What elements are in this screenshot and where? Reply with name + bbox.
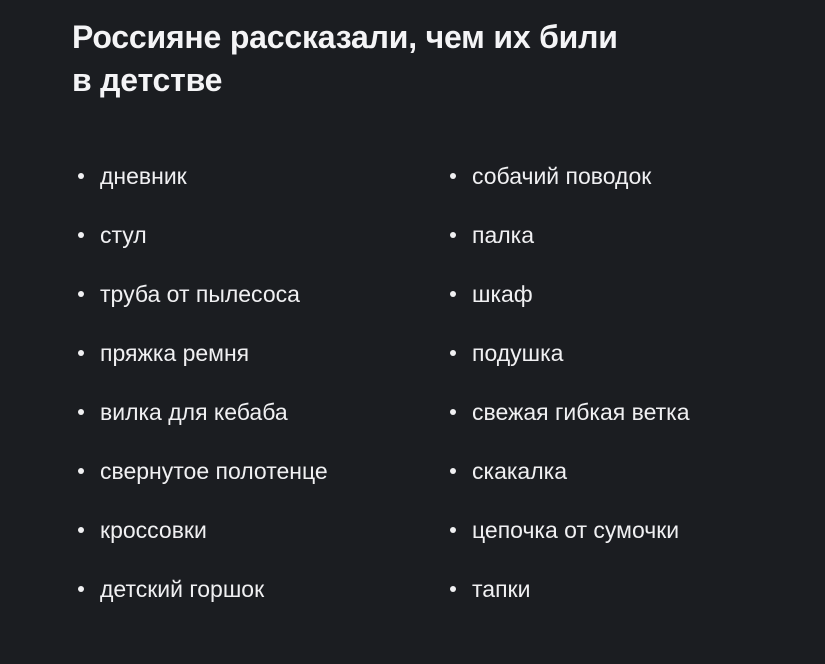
- bullet-icon: [450, 586, 456, 592]
- list-item: стул: [72, 205, 444, 264]
- list-item: скакалка: [444, 441, 784, 500]
- right-column: собачий поводок палка шкаф подушка свежа…: [444, 146, 784, 618]
- list-item-label: вилка для кебаба: [100, 398, 288, 426]
- bullet-icon: [78, 527, 84, 533]
- list-item-label: труба от пылесоса: [100, 280, 300, 308]
- list-item-label: шкаф: [472, 280, 533, 308]
- bullet-icon: [450, 468, 456, 474]
- list-item: вилка для кебаба: [72, 382, 444, 441]
- bullet-icon: [450, 232, 456, 238]
- list-item-label: свернутое полотенце: [100, 457, 328, 485]
- list-item-label: детский горшок: [100, 575, 264, 603]
- list-item-label: свежая гибкая ветка: [472, 398, 690, 426]
- list-item: цепочка от сумочки: [444, 500, 784, 559]
- bullet-icon: [78, 409, 84, 415]
- list-item-label: цепочка от сумочки: [472, 516, 679, 544]
- list-item-label: дневник: [100, 162, 187, 190]
- list-item-label: стул: [100, 221, 147, 249]
- left-column: дневник стул труба от пылесоса пряжка ре…: [72, 146, 444, 618]
- list-item: свернутое полотенце: [72, 441, 444, 500]
- list-item-label: подушка: [472, 339, 563, 367]
- bullet-icon: [78, 173, 84, 179]
- list-item: детский горшок: [72, 559, 444, 618]
- content-card: Россияне рассказали, чем их били в детст…: [0, 0, 825, 664]
- bullet-icon: [450, 527, 456, 533]
- list-item: подушка: [444, 323, 784, 382]
- list-item: кроссовки: [72, 500, 444, 559]
- bullet-icon: [450, 173, 456, 179]
- list-item: дневник: [72, 146, 444, 205]
- list-item: тапки: [444, 559, 784, 618]
- bullet-icon: [78, 350, 84, 356]
- page-title: Россияне рассказали, чем их били в детст…: [72, 16, 753, 102]
- bullet-icon: [78, 468, 84, 474]
- list-item-label: кроссовки: [100, 516, 207, 544]
- list-item: шкаф: [444, 264, 784, 323]
- list-item-label: палка: [472, 221, 534, 249]
- bullet-icon: [450, 409, 456, 415]
- bullet-icon: [78, 232, 84, 238]
- bullet-icon: [450, 291, 456, 297]
- bullet-icon: [78, 586, 84, 592]
- list-item: труба от пылесоса: [72, 264, 444, 323]
- list-item-label: тапки: [472, 575, 530, 603]
- bullet-icon: [78, 291, 84, 297]
- list-item-label: собачий поводок: [472, 162, 651, 190]
- list-item: пряжка ремня: [72, 323, 444, 382]
- items-list-container: дневник стул труба от пылесоса пряжка ре…: [72, 146, 753, 618]
- list-item-label: скакалка: [472, 457, 567, 485]
- list-item: палка: [444, 205, 784, 264]
- list-item-label: пряжка ремня: [100, 339, 249, 367]
- list-item: свежая гибкая ветка: [444, 382, 784, 441]
- list-item: собачий поводок: [444, 146, 784, 205]
- bullet-icon: [450, 350, 456, 356]
